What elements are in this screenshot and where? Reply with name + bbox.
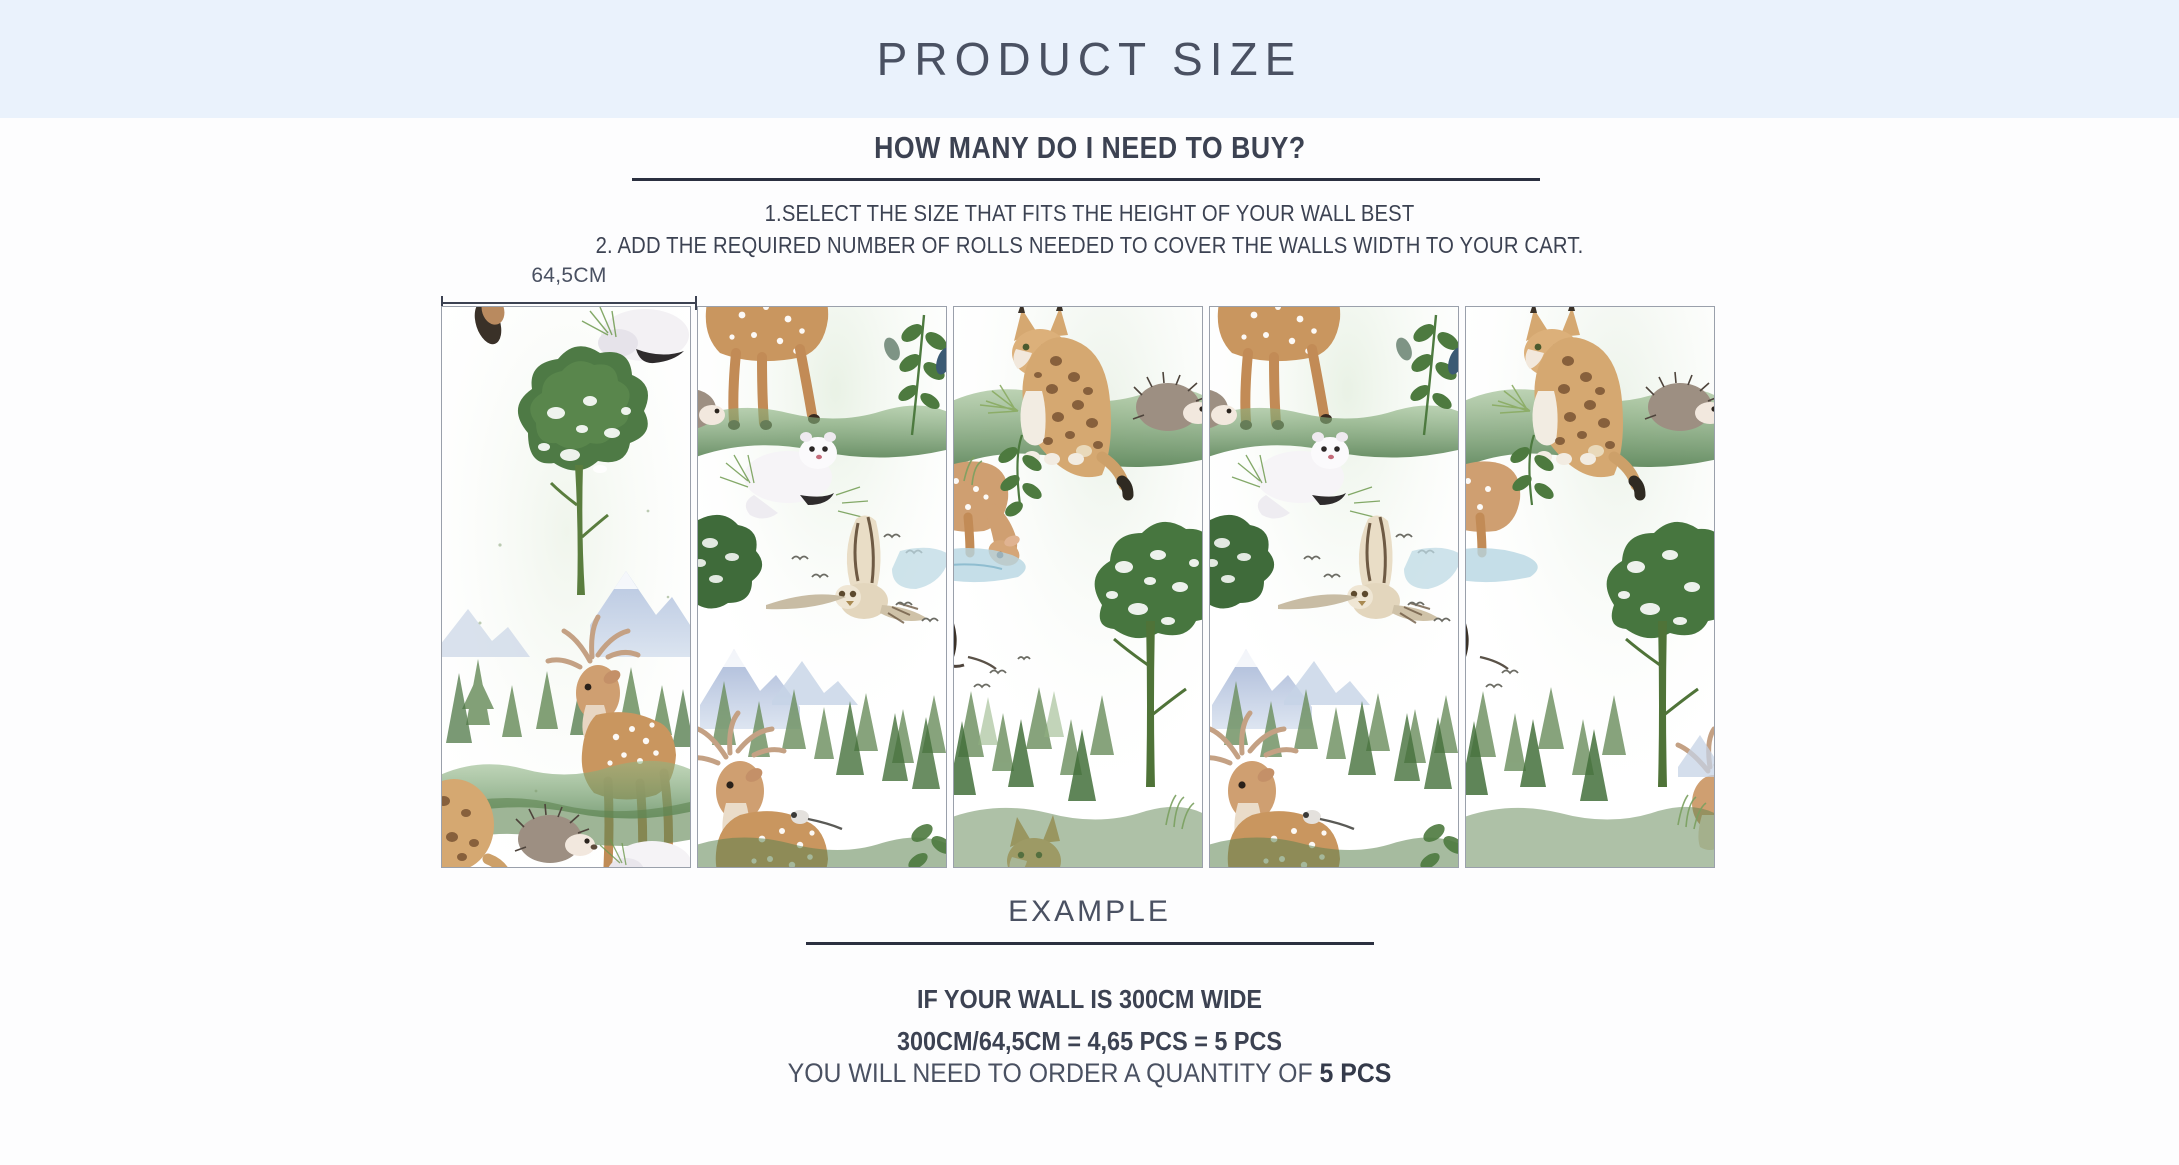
example-divider bbox=[806, 942, 1374, 945]
woodland-pattern-b-art bbox=[1209, 306, 1459, 868]
roll-width-label: 64,5CM bbox=[441, 264, 697, 288]
example-final-quantity: 5 PCS bbox=[1320, 1058, 1392, 1088]
example-line-2: 300CM/64,5CM = 4,65 PCS = 5 PCS bbox=[109, 1020, 2070, 1062]
woodland-pattern-c-art bbox=[1465, 306, 1715, 868]
woodland-pattern-c-art bbox=[953, 306, 1203, 868]
example-calculation: IF YOUR WALL IS 300CM WIDE 300CM/64,5CM … bbox=[0, 978, 2179, 1062]
example-heading: EXAMPLE bbox=[0, 895, 2179, 929]
woodland-pattern-b-art bbox=[697, 306, 947, 868]
example-final-statement: YOU WILL NEED TO ORDER A QUANTITY OF 5 P… bbox=[87, 1058, 2092, 1089]
page-banner: PRODUCT SIZE bbox=[0, 0, 2179, 118]
wallpaper-panel[interactable] bbox=[1209, 306, 1459, 868]
wallpaper-panel[interactable] bbox=[441, 306, 691, 868]
instruction-step-2: 2. ADD THE REQUIRED NUMBER OF ROLLS NEED… bbox=[131, 229, 2049, 261]
example-line-1: IF YOUR WALL IS 300CM WIDE bbox=[109, 978, 2070, 1020]
wallpaper-panel[interactable] bbox=[953, 306, 1203, 868]
wallpaper-panel[interactable] bbox=[697, 306, 947, 868]
section-heading: HOW MANY DO I NEED TO BUY? bbox=[874, 130, 1306, 166]
example-final-prefix: YOU WILL NEED TO ORDER A QUANTITY OF bbox=[788, 1058, 1320, 1088]
wallpaper-panel[interactable] bbox=[1465, 306, 1715, 868]
page-title: PRODUCT SIZE bbox=[877, 32, 1303, 86]
product-size-page: PRODUCT SIZE HOW MANY DO I NEED TO BUY? … bbox=[0, 0, 2179, 1165]
instruction-steps: 1.SELECT THE SIZE THAT FITS THE HEIGHT O… bbox=[0, 197, 2179, 261]
section-heading-wrap: HOW MANY DO I NEED TO BUY? bbox=[0, 130, 2179, 166]
instruction-step-1: 1.SELECT THE SIZE THAT FITS THE HEIGHT O… bbox=[131, 197, 2049, 229]
dimension-bar bbox=[441, 302, 697, 304]
wallpaper-panel-row bbox=[441, 306, 1735, 868]
woodland-pattern-a-art bbox=[441, 306, 691, 868]
heading-divider bbox=[632, 178, 1540, 181]
